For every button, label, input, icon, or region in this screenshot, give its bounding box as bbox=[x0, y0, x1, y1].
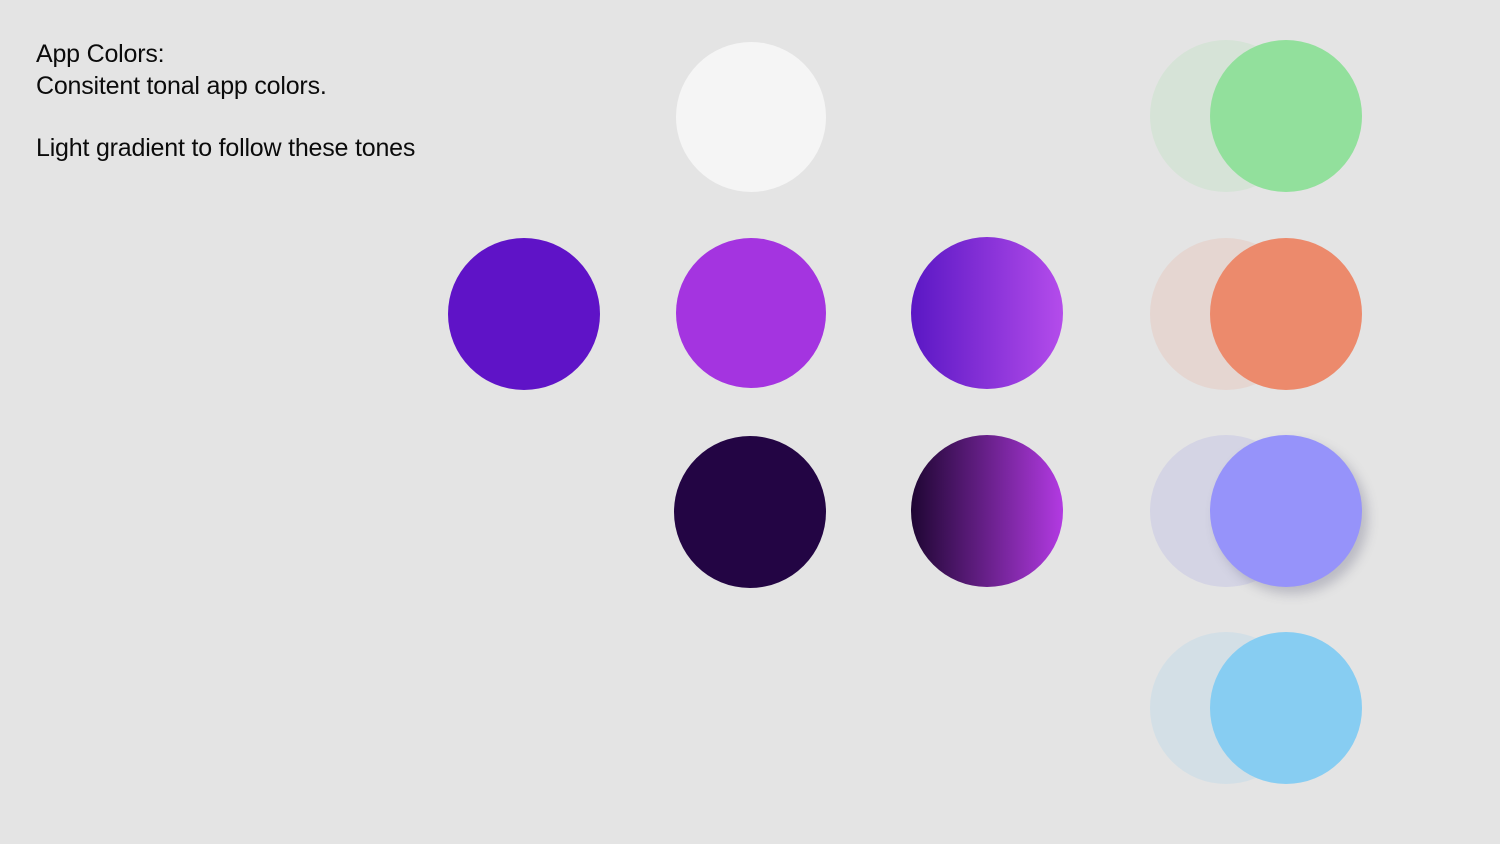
notes-block: App Colors: Consitent tonal app colors. … bbox=[36, 38, 656, 164]
swatch-pair-sky-blue bbox=[1150, 632, 1362, 784]
swatch-near-black-purple[interactable] bbox=[674, 436, 826, 588]
swatch-pair-salmon bbox=[1150, 238, 1362, 390]
swatch-pair-sky-blue-front[interactable] bbox=[1210, 632, 1362, 784]
swatch-pair-periwinkle bbox=[1150, 435, 1362, 587]
note-spacer bbox=[36, 102, 656, 132]
swatch-deep-purple[interactable] bbox=[448, 238, 600, 390]
note-subtitle: Consitent tonal app colors. bbox=[36, 70, 656, 102]
note-gradient: Light gradient to follow these tones bbox=[36, 132, 656, 164]
note-title: App Colors: bbox=[36, 38, 656, 70]
swatch-pair-green-front[interactable] bbox=[1210, 40, 1362, 192]
swatch-gradient-light-purple[interactable] bbox=[911, 237, 1063, 389]
color-palette-canvas: App Colors: Consitent tonal app colors. … bbox=[0, 0, 1500, 844]
swatch-pair-periwinkle-front[interactable] bbox=[1210, 435, 1362, 587]
swatch-pair-salmon-front[interactable] bbox=[1210, 238, 1362, 390]
swatch-orchid[interactable] bbox=[676, 238, 826, 388]
swatch-pair-green bbox=[1150, 40, 1362, 192]
swatch-white[interactable] bbox=[676, 42, 826, 192]
swatch-gradient-dark-purple[interactable] bbox=[911, 435, 1063, 587]
